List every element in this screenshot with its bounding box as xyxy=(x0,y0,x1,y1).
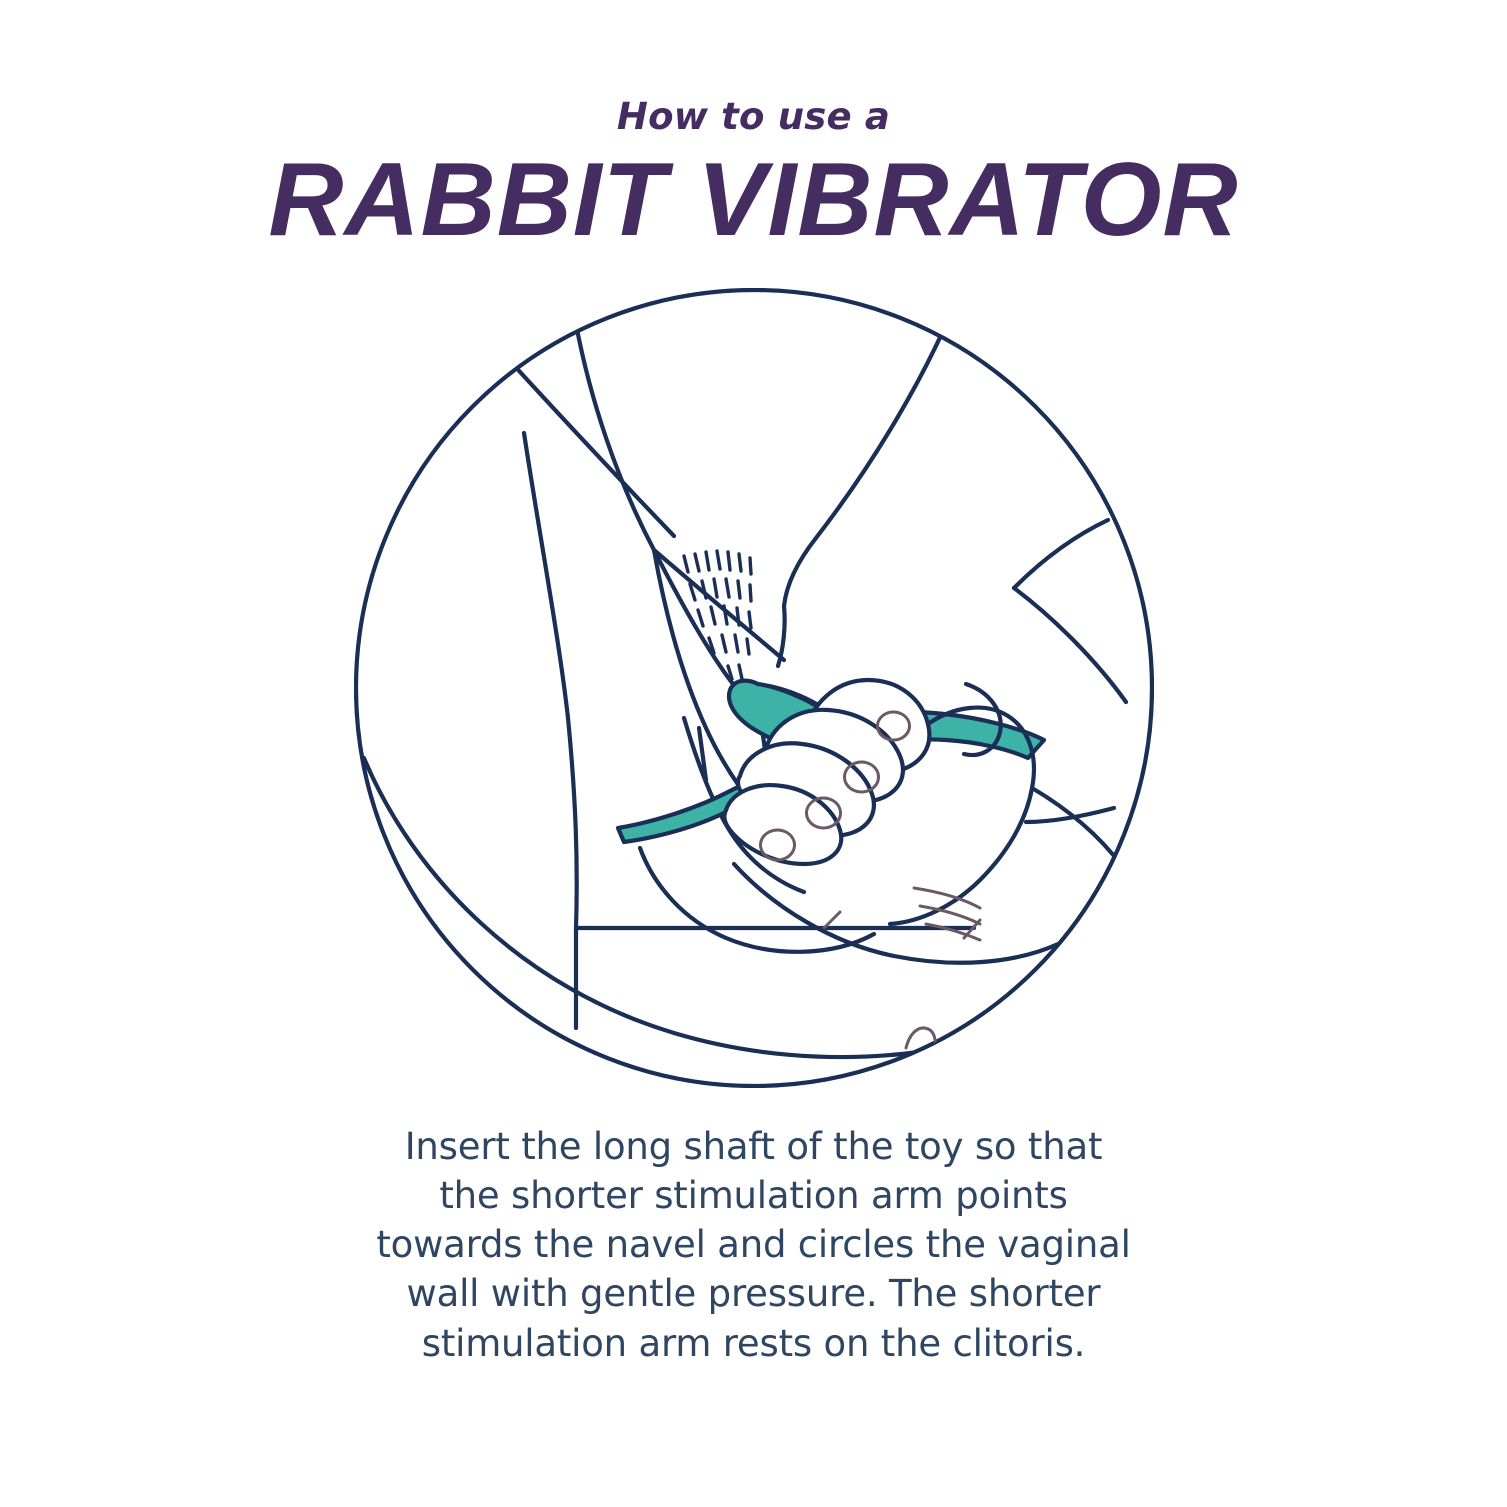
wrist-outer xyxy=(1032,788,1122,866)
caption-line: the shorter stimulation arm points xyxy=(334,1171,1174,1220)
rabbit-vibrator-illustration xyxy=(354,288,1154,1088)
forearm-seam xyxy=(1014,520,1108,588)
illustration-container xyxy=(354,288,1154,1088)
hand-lower-edge xyxy=(734,864,1058,963)
page-title: RABBIT VIBRATOR xyxy=(0,151,1507,250)
caption-line: Insert the long shaft of the toy so that xyxy=(334,1122,1174,1171)
infographic-page: How to use a RABBIT VIBRATOR xyxy=(0,0,1507,1507)
scene xyxy=(364,306,1126,1068)
forearm-top xyxy=(1014,588,1126,702)
caption-line: wall with gentle pressure. The shorter xyxy=(334,1269,1174,1318)
torso-seam-left xyxy=(576,324,736,688)
caption-line: stimulation arm rests on the clitoris. xyxy=(334,1319,1174,1368)
header: How to use a RABBIT VIBRATOR xyxy=(0,0,1507,250)
hand-tick-a xyxy=(824,912,840,928)
caption-line: towards the navel and circles the vagina… xyxy=(334,1220,1174,1269)
surface-line xyxy=(576,928,974,929)
eyebrow-text: How to use a xyxy=(0,98,1507,135)
panty-edge-right xyxy=(784,306,954,606)
hip-line-upper xyxy=(472,319,674,536)
thigh-outer-contour xyxy=(524,433,577,928)
caption-block: Insert the long shaft of the toy so that… xyxy=(334,1122,1174,1368)
